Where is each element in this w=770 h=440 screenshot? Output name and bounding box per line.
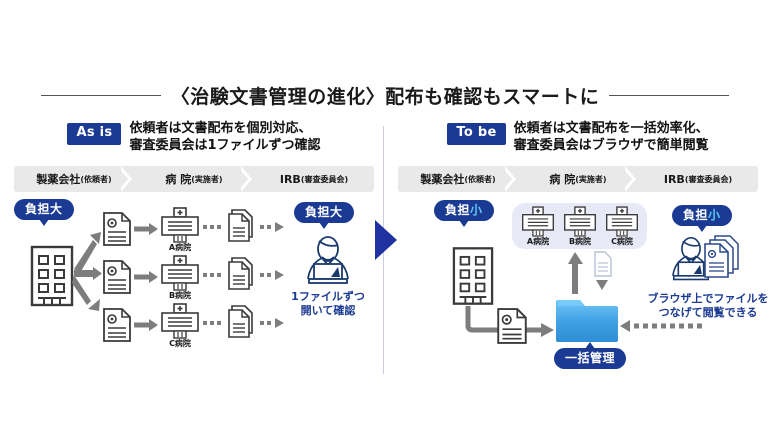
stacked-documents-icon-c xyxy=(226,305,256,341)
dotted-arrow-c1 xyxy=(203,318,223,328)
to-be-sponsor-burden-accent: 小 xyxy=(470,203,483,217)
to-be-headline-line2: 審査委員会はブラウザで簡単閲覧 xyxy=(514,137,709,154)
to-be-reviewer-burden-callout: 負担小 xyxy=(672,205,732,226)
to-be-reviewer-burden-accent: 小 xyxy=(708,208,721,222)
hospital-label-b: B病院 xyxy=(160,291,200,301)
dotted-arrow-a1 xyxy=(203,222,223,232)
hospital-icon-c2 xyxy=(605,206,639,237)
sealed-document-icon-a xyxy=(103,212,131,246)
as-is-headline-line2: 審査委員会は1ファイルずつ確認 xyxy=(129,137,320,154)
pharma-company-building-icon xyxy=(30,245,74,307)
to-be-reviewer-caption-line1: ブラウザ上でファイルを xyxy=(646,292,770,306)
doc-to-hospital-arrow-a xyxy=(134,223,158,235)
hospital-label-c: C病院 xyxy=(160,339,200,349)
stage-irb: IRB(審査委員会) xyxy=(254,166,374,192)
reviewer-person-laptop-icon xyxy=(296,227,360,285)
stage-irb-2-sub: (審査委員会) xyxy=(685,174,732,185)
page-title: 〈治験文書管理の進化〉配布も確認もスマートに xyxy=(0,78,770,112)
stage-pharma-2-name: 製薬会社 xyxy=(420,171,464,187)
as-is-reviewer-caption: 1ファイルずつ 開いて確認 xyxy=(286,290,370,319)
to-be-sponsor-burden-main: 負担 xyxy=(445,203,470,217)
stage-hospital-name: 病 院 xyxy=(165,171,191,187)
as-is-reviewer-burden-callout: 負担大 xyxy=(294,202,354,223)
to-be-stage-bar: 製薬会社(依頼者) 病 院(実施者) IRB(審査委員会) xyxy=(398,166,758,192)
panel-to-be: To be 依頼者は文書配布を一括効率化、 審査委員会はブラウザで簡単閲覧 製薬… xyxy=(398,120,758,192)
dotted-arrow-b2 xyxy=(260,269,286,281)
to-be-reviewer-caption-line2: つなげて閲覧できる xyxy=(646,306,770,320)
stage-pharma-2-sub: (依頼者) xyxy=(464,174,495,185)
hospital-label-b2: B病院 xyxy=(560,237,600,247)
as-is-headline-line1: 依頼者は文書配布を個別対応、 xyxy=(129,120,320,137)
to-be-sponsor-burden-callout: 負担小 xyxy=(434,200,494,221)
dotted-arrow-c2 xyxy=(260,317,286,329)
to-be-headline-line1: 依頼者は文書配布を一括効率化、 xyxy=(514,120,709,137)
dotted-arrow-b1 xyxy=(203,270,223,280)
sealed-document-icon-right xyxy=(497,308,527,344)
stage-irb-2-name: IRB xyxy=(664,173,685,186)
transition-arrow-icon xyxy=(375,220,397,260)
panel-as-is: As is 依頼者は文書配布を個別対応、 審査委員会は1ファイルずつ確認 製薬会… xyxy=(14,120,374,192)
pharma-company-building-icon-2 xyxy=(452,246,494,306)
browser-access-dotted-arrow xyxy=(620,320,728,332)
sealed-document-icon-b xyxy=(103,260,131,294)
stacked-documents-icon-a xyxy=(226,209,256,245)
stage-pharma-sub: (依頼者) xyxy=(80,174,111,185)
hospital-icon-b xyxy=(160,255,200,291)
to-be-reviewer-burden-main: 負担 xyxy=(683,208,708,222)
hospital-label-c2: C病院 xyxy=(602,237,642,247)
stage-pharma-2: 製薬会社(依頼者) xyxy=(398,166,518,192)
title-rule-left xyxy=(41,95,161,96)
page-title-text: 〈治験文書管理の進化〉配布も確認もスマートに xyxy=(171,82,599,109)
shared-folder-icon xyxy=(556,294,618,346)
doc-to-hospital-arrow-b xyxy=(134,271,158,283)
hospital-label-a2: A病院 xyxy=(518,237,558,247)
as-is-reviewer-caption-line1: 1ファイルずつ xyxy=(286,290,370,304)
hospital-icon-a xyxy=(160,207,200,243)
folder-label-callout: 一括管理 xyxy=(554,348,626,369)
as-is-stage-bar: 製薬会社(依頼者) 病 院(実施者) IRB(審査委員会) xyxy=(14,166,374,192)
to-be-headline: 依頼者は文書配布を一括効率化、 審査委員会はブラウザで簡単閲覧 xyxy=(514,120,709,154)
stage-pharma-name: 製薬会社 xyxy=(36,171,80,187)
stage-irb-sub: (審査委員会) xyxy=(301,174,348,185)
stage-irb-2: IRB(審査委員会) xyxy=(638,166,758,192)
sealed-document-icon-c xyxy=(103,308,131,342)
uploaded-document-icon xyxy=(592,252,614,292)
stage-irb-name: IRB xyxy=(280,173,301,186)
doc-to-hospital-arrow-c xyxy=(134,319,158,331)
infographic-root: 〈治験文書管理の進化〉配布も確認もスマートに As is 依頼者は文書配布を個別… xyxy=(0,0,770,440)
hospital-icon-b2 xyxy=(563,206,597,237)
as-is-reviewer-caption-line2: 開いて確認 xyxy=(286,304,370,318)
stage-hospital-2-sub: (実施者) xyxy=(575,174,606,185)
stage-hospital-sub: (実施者) xyxy=(191,174,222,185)
folder-to-hospitals-arrow xyxy=(568,252,584,294)
as-is-branch-arrows xyxy=(74,213,102,343)
stage-pharma: 製薬会社(依頼者) xyxy=(14,166,134,192)
stage-hospital-2-name: 病 院 xyxy=(549,171,575,187)
as-is-badge: As is xyxy=(67,123,121,145)
title-rule-right xyxy=(609,95,729,96)
hospital-icon-c xyxy=(160,303,200,339)
stacked-documents-icon-b xyxy=(226,257,256,293)
to-be-badge: To be xyxy=(447,123,505,145)
hospital-label-a: A病院 xyxy=(160,243,200,253)
hospital-icon-a2 xyxy=(521,206,555,237)
as-is-headline: 依頼者は文書配布を個別対応、 審査委員会は1ファイルずつ確認 xyxy=(129,120,320,154)
dotted-arrow-a2 xyxy=(260,221,286,233)
as-is-sponsor-burden-callout: 負担大 xyxy=(14,199,74,220)
connected-documents-icon xyxy=(703,235,747,281)
stage-hospital: 病 院(実施者) xyxy=(134,166,254,192)
stage-hospital-2: 病 院(実施者) xyxy=(518,166,638,192)
to-be-header: To be 依頼者は文書配布を一括効率化、 審査委員会はブラウザで簡単閲覧 xyxy=(398,120,758,164)
as-is-header: As is 依頼者は文書配布を個別対応、 審査委員会は1ファイルずつ確認 xyxy=(14,120,374,164)
to-be-reviewer-caption: ブラウザ上でファイルを つなげて閲覧できる xyxy=(646,292,770,321)
